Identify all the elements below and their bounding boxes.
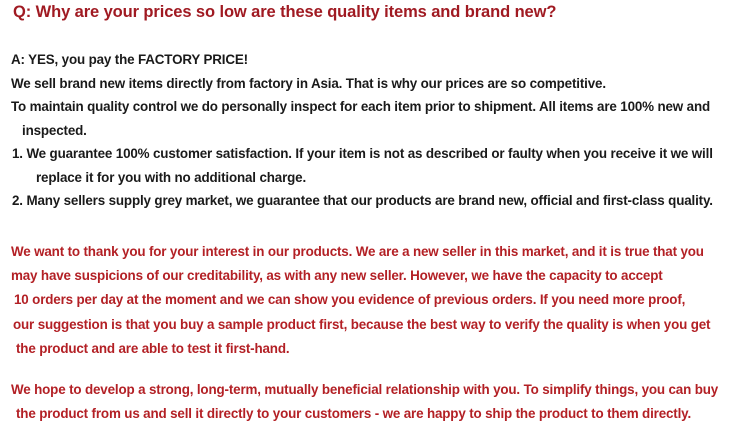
answer-factory-line: We sell brand new items directly from fa…: [11, 72, 737, 96]
seller-notice-block: We want to thank you for your interest i…: [11, 240, 741, 361]
notice-line-4: our suggestion is that you buy a sample …: [11, 313, 741, 337]
answer-quality-control-line-cont: inspected.: [11, 119, 737, 143]
answer-list-item-2: 2. Many sellers supply grey market, we g…: [11, 189, 737, 213]
faq-answer-block: A: YES, you pay the FACTORY PRICE! We se…: [11, 48, 737, 213]
closing-line-1: We hope to develop a strong, long-term, …: [11, 378, 741, 402]
notice-line-3: 10 orders per day at the moment and we c…: [11, 288, 741, 312]
answer-list-item-1-cont: replace it for you with no additional ch…: [11, 166, 737, 190]
notice-line-5: the product and are able to test it firs…: [11, 337, 741, 361]
answer-list-item-1: 1. We guarantee 100% customer satisfacti…: [11, 142, 737, 166]
closing-line-2: the product from us and sell it directly…: [11, 402, 741, 426]
closing-message-block: We hope to develop a strong, long-term, …: [11, 378, 741, 426]
answer-quality-control-line: To maintain quality control we do person…: [11, 95, 737, 119]
faq-question-heading: Q: Why are your prices so low are these …: [13, 3, 733, 22]
answer-intro-line: A: YES, you pay the FACTORY PRICE!: [11, 48, 737, 72]
notice-line-1: We want to thank you for your interest i…: [11, 240, 741, 264]
faq-page: Q: Why are your prices so low are these …: [0, 0, 747, 444]
notice-line-2: may have suspicions of our creditability…: [11, 264, 741, 288]
